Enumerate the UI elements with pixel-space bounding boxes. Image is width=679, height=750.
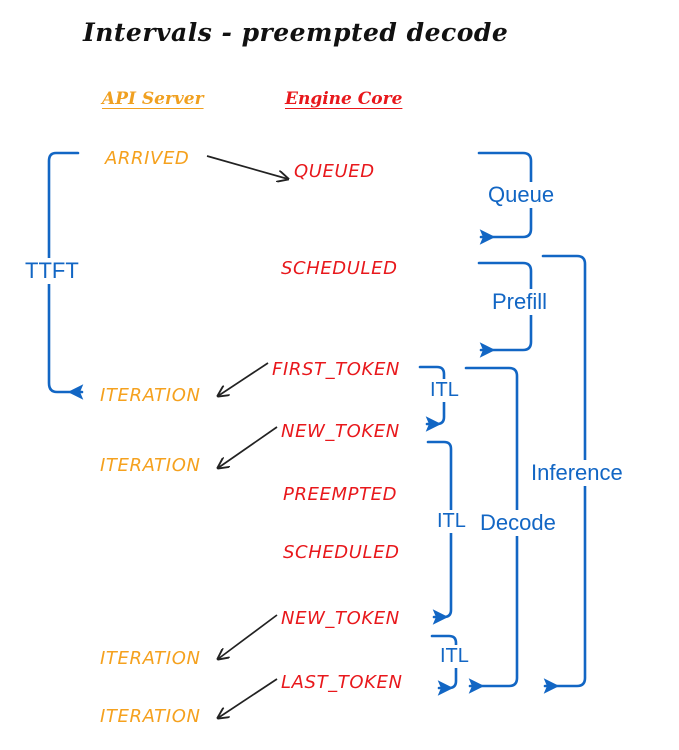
column-header-api-server: API Server bbox=[102, 89, 204, 109]
transition-arrow-new-token-iteration-1 bbox=[218, 427, 277, 468]
event-last-token: LAST_TOKEN bbox=[281, 672, 403, 693]
page-title: Intervals - preempted decode bbox=[83, 18, 508, 47]
interval-label-decode: Decode bbox=[477, 510, 559, 536]
interval-label-ttft: TTFT bbox=[22, 258, 82, 284]
interval-label-itl-1: ITL bbox=[427, 379, 462, 402]
transition-arrow-arrived-queued bbox=[207, 156, 288, 179]
interval-label-queue: Queue bbox=[485, 182, 557, 208]
event-first-token: FIRST_TOKEN bbox=[272, 359, 400, 380]
event-iteration-4: ITERATION bbox=[100, 706, 201, 727]
interval-label-inference: Inference bbox=[528, 460, 626, 486]
event-scheduled-1: SCHEDULED bbox=[281, 258, 398, 279]
event-iteration-1: ITERATION bbox=[100, 385, 201, 406]
event-new-token-2: NEW_TOKEN bbox=[281, 608, 400, 629]
transition-arrow-new-token-iteration-2 bbox=[218, 615, 277, 659]
interval-label-prefill: Prefill bbox=[489, 289, 550, 315]
interval-label-itl-3: ITL bbox=[437, 645, 472, 668]
transition-arrow-first-token-iteration bbox=[218, 363, 268, 396]
event-iteration-2: ITERATION bbox=[100, 455, 201, 476]
diagram-canvas: Intervals - preempted decode API Server … bbox=[0, 0, 679, 750]
transition-arrow-last-token-iteration bbox=[218, 679, 277, 718]
interval-label-itl-2: ITL bbox=[434, 510, 469, 533]
event-iteration-3: ITERATION bbox=[100, 648, 201, 669]
event-preempted: PREEMPTED bbox=[283, 484, 397, 505]
column-header-engine-core: Engine Core bbox=[285, 89, 402, 109]
event-scheduled-2: SCHEDULED bbox=[283, 542, 400, 563]
event-queued: QUEUED bbox=[294, 161, 375, 182]
event-arrived: ARRIVED bbox=[105, 148, 189, 169]
event-new-token-1: NEW_TOKEN bbox=[281, 421, 400, 442]
